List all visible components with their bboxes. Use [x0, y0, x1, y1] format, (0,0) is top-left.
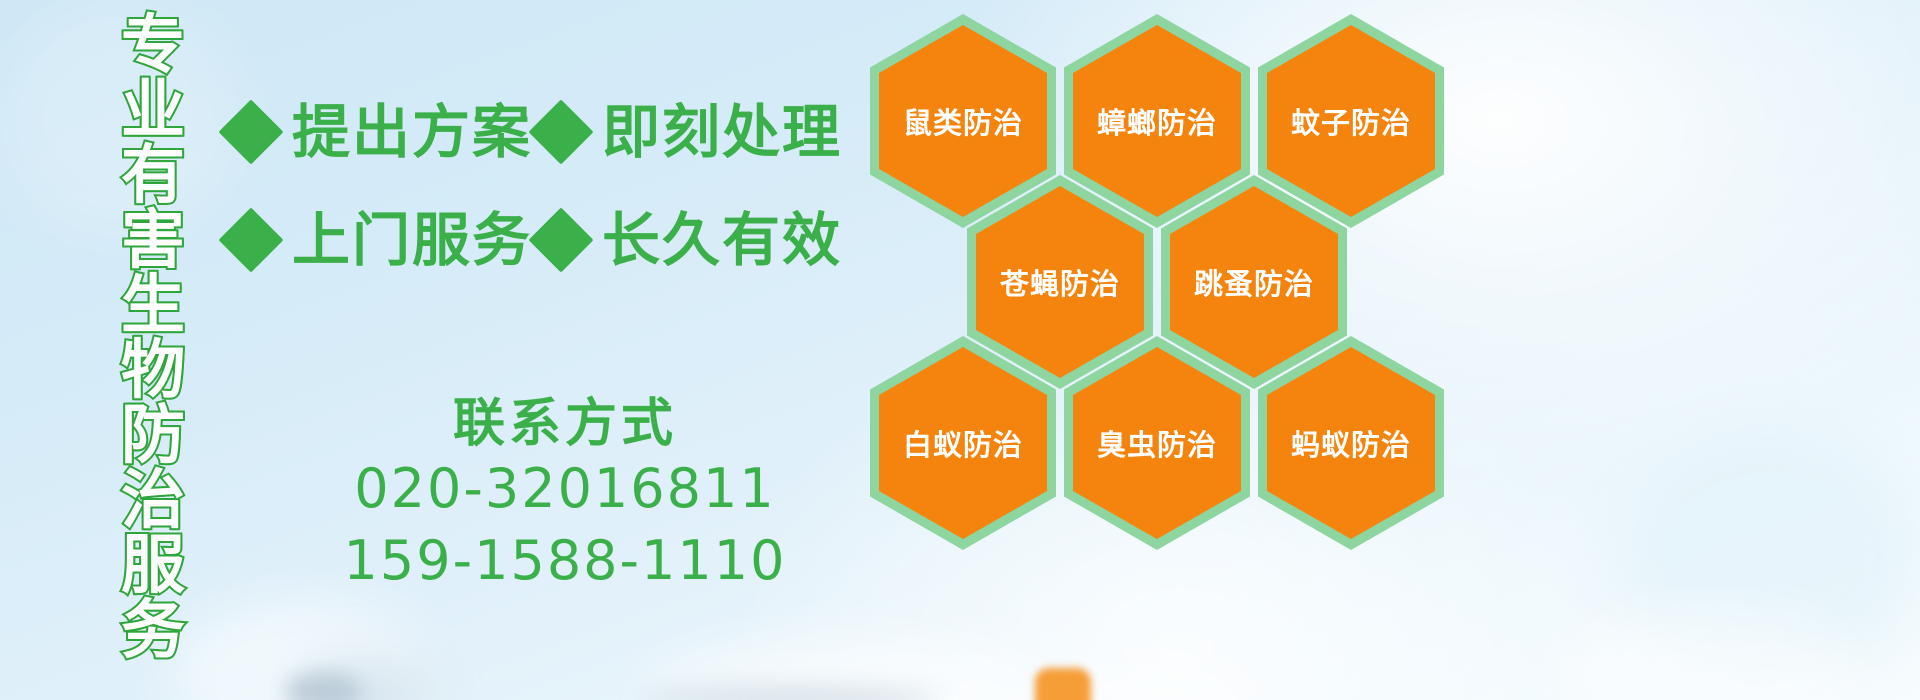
diamond-icon [218, 207, 283, 272]
vertical-headline-char: 治 [121, 469, 185, 534]
background-bokeh-1 [170, 600, 430, 700]
feature-label: 即刻处理 [602, 103, 842, 161]
background-bokeh-5 [1560, 610, 1860, 700]
feature-list: 提出方案 即刻处理 上门服务 长久有效 [228, 78, 868, 294]
background-glow-right [1620, 430, 1920, 680]
vertical-headline-char: 防 [121, 404, 185, 469]
diamond-icon [528, 99, 593, 164]
service-hex-label: 鼠类防治 [903, 100, 1023, 142]
diamond-icon [218, 99, 283, 164]
phone-number-mobile[interactable]: 159-1588-1110 [330, 525, 800, 596]
background-bokeh-orange [1035, 668, 1091, 700]
vertical-headline-char: 务 [121, 599, 185, 664]
background-bokeh-4 [1040, 660, 1260, 700]
phone-number-landline[interactable]: 020-32016811 [330, 453, 800, 524]
vertical-headline-char: 服 [121, 534, 185, 599]
pest-control-banner: 专 业 有 害 生 物 防 治 服 务 提出方案 即刻处理 上门服务 [0, 0, 1920, 700]
feature-label: 上门服务 [292, 211, 532, 269]
service-hex-label: 蚊子防治 [1291, 100, 1411, 142]
feature-row: 上门服务 长久有效 [228, 186, 868, 294]
feature-item: 提出方案 [228, 103, 538, 161]
service-hex-grid: 鼠类防治 蟑螂防治 蚊子防治 苍蝇防治 跳蚤防治 白蚁防治 臭虫防治 蚂蚁 [862, 0, 1462, 560]
background-bokeh-2 [310, 660, 430, 700]
feature-item: 即刻处理 [538, 103, 842, 161]
service-hex-label: 白蚁防治 [903, 422, 1023, 464]
feature-item: 上门服务 [228, 211, 538, 269]
contact-block: 联系方式 020-32016811 159-1588-1110 [330, 395, 800, 596]
vertical-headline-char: 害 [121, 209, 185, 274]
feature-item: 长久有效 [538, 211, 842, 269]
background-bokeh-3 [640, 640, 1060, 700]
service-hex-label: 臭虫防治 [1097, 422, 1217, 464]
vertical-headline-char: 有 [121, 144, 185, 209]
service-hex-label: 苍蝇防治 [1000, 261, 1120, 303]
service-hex-label: 蚂蚁防治 [1291, 422, 1411, 464]
vertical-headline-char: 生 [121, 274, 185, 339]
service-hex-label: 跳蚤防治 [1194, 261, 1314, 303]
vertical-headline-char: 业 [121, 79, 185, 144]
feature-label: 长久有效 [602, 211, 842, 269]
background-bokeh-grey-1 [285, 672, 363, 700]
background-bokeh-grey-2 [640, 686, 940, 700]
vertical-headline: 专 业 有 害 生 物 防 治 服 务 [110, 14, 196, 664]
feature-row: 提出方案 即刻处理 [228, 78, 868, 186]
vertical-headline-char: 物 [121, 339, 185, 404]
diamond-icon [528, 207, 593, 272]
vertical-headline-char: 专 [121, 14, 185, 79]
contact-title: 联系方式 [330, 395, 800, 453]
feature-label: 提出方案 [292, 103, 532, 161]
service-hex-label: 蟑螂防治 [1097, 100, 1217, 142]
